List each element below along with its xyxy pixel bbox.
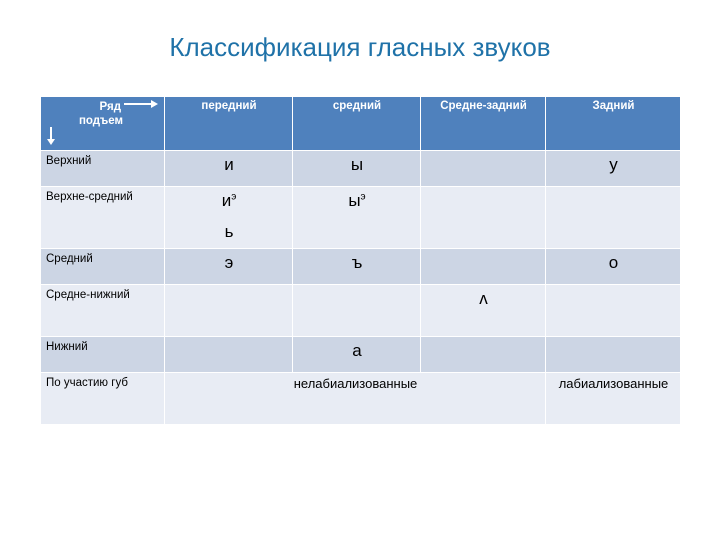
cell-superscript-char: э <box>231 191 236 202</box>
cell-sredne-nizhniy-zadnij <box>546 285 681 337</box>
cell-sredniy-perednij: э <box>165 249 293 285</box>
cell-superscript-char: э <box>361 191 366 202</box>
page-title: Классификация гласных звуков <box>40 32 680 63</box>
row-label-sredniy: Средний <box>41 249 165 285</box>
table-body: Верхний и ы у Верхне-средний иэ ь ыэ <box>41 151 681 425</box>
table-row: Верхний и ы у <box>41 151 681 187</box>
header-cell-zadnij: Задний <box>546 97 681 151</box>
table-row: Средний э ъ о <box>41 249 681 285</box>
header-cell-perednij: передний <box>165 97 293 151</box>
table-row: Верхне-средний иэ ь ыэ <box>41 187 681 249</box>
row-label-po-uchastiyu-gub: По участию губ <box>41 373 165 425</box>
vowel-classification-table-wrapper: Ряд подъем передний средний Средне-задни… <box>40 96 680 425</box>
row-label-verhne-sredniy: Верхне-средний <box>41 187 165 249</box>
vowel-classification-table: Ряд подъем передний средний Средне-задни… <box>40 96 681 425</box>
table-header: Ряд подъем передний средний Средне-задни… <box>41 97 681 151</box>
header-cell-sredne-zadnij: Средне-задний <box>421 97 546 151</box>
cell-unrounded-vowels: нелабиализованные <box>165 373 546 425</box>
cell-nizhniy-perednij <box>165 337 293 373</box>
header-row: Ряд подъем передний средний Средне-задни… <box>41 97 681 151</box>
cell-nizhniy-zadnij <box>546 337 681 373</box>
cell-sredniy-zadnij: о <box>546 249 681 285</box>
row-label-nizhniy: Нижний <box>41 337 165 373</box>
cell-verhniy-zadnij: у <box>546 151 681 187</box>
cell-verhniy-perednij: и <box>165 151 293 187</box>
cell-verhne-sredniy-sredne-zadnij <box>421 187 546 249</box>
table-row: По участию губ нелабиализованные лабиали… <box>41 373 681 425</box>
cell-sredne-nizhniy-sredne-zadnij: ʌ <box>421 285 546 337</box>
cell-verhne-sredniy-perednij: иэ ь <box>165 187 293 249</box>
cell-verhne-sredniy-srednij: ыэ <box>293 187 421 249</box>
cell-verhniy-sredne-zadnij <box>421 151 546 187</box>
cell-verhniy-srednij: ы <box>293 151 421 187</box>
arrow-right-icon <box>124 100 158 108</box>
corner-row-label: Ряд <box>99 101 121 113</box>
table-row: Нижний а <box>41 337 681 373</box>
arrow-down-icon <box>47 127 55 145</box>
cell-sredniy-srednij: ъ <box>293 249 421 285</box>
corner-col-label: подъем <box>46 114 160 128</box>
row-label-verhniy: Верхний <box>41 151 165 187</box>
header-cell-srednij: средний <box>293 97 421 151</box>
slide: Классификация гласных звуков Ряд подъем … <box>0 0 720 540</box>
corner-row-label-line: Ряд <box>46 100 160 114</box>
header-cell-corner: Ряд подъем <box>41 97 165 151</box>
cell-base-char: ы <box>348 191 360 210</box>
cell-nizhniy-sredne-zadnij <box>421 337 546 373</box>
cell-nizhniy-srednij: а <box>293 337 421 373</box>
cell-sredniy-sredne-zadnij <box>421 249 546 285</box>
cell-verhne-sredniy-zadnij <box>546 187 681 249</box>
cell-line-1: ыэ <box>298 190 416 212</box>
cell-base-char: и <box>222 191 232 210</box>
cell-sredne-nizhniy-perednij <box>165 285 293 337</box>
cell-rounded-vowels: лабиализованные <box>546 373 681 425</box>
table-row: Средне-нижний ʌ <box>41 285 681 337</box>
cell-sredne-nizhniy-srednij <box>293 285 421 337</box>
cell-line-1: иэ <box>170 190 288 212</box>
cell-line-2: ь <box>170 221 288 243</box>
row-label-sredne-nizhniy: Средне-нижний <box>41 285 165 337</box>
